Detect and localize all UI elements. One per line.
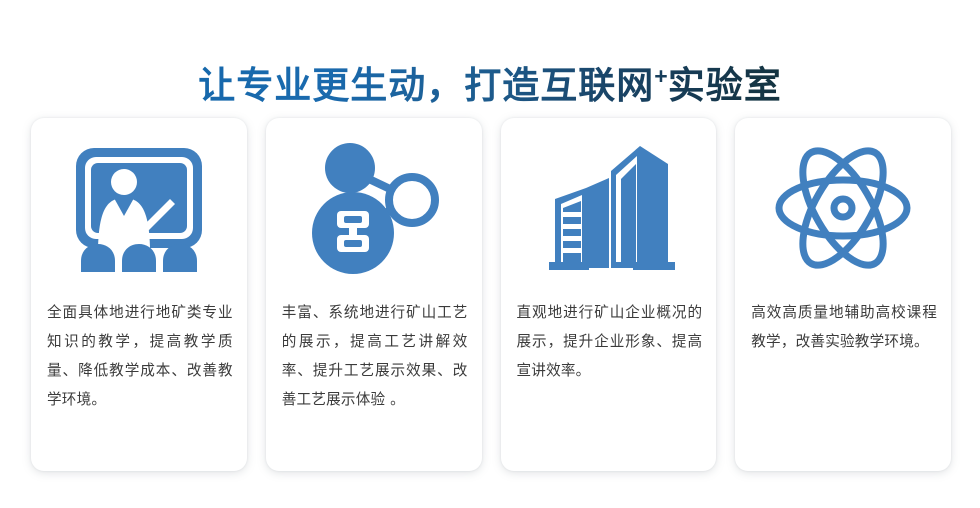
feature-card-description: 全面具体地进行地矿类专业知识的教学，提高教学质量、降低教学成本、改善教学环境。 [47, 298, 233, 414]
office-buildings-icon [537, 142, 679, 274]
feature-card-icon-container [735, 118, 951, 298]
feature-card-icon-container [31, 118, 247, 298]
atom-science-icon [773, 146, 913, 270]
page-title-part-2: 实验室 [668, 65, 782, 106]
feature-card-enterprise-overview[interactable]: 直观地进行矿山企业概况的展示，提升企业形象、提高宣讲效率。 [501, 118, 717, 471]
page-title-part-1: 让专业更生动，打造互联网 [198, 65, 654, 106]
feature-card-icon-container [266, 118, 482, 298]
page-title: 让专业更生动，打造互联网+实验室 [198, 53, 781, 109]
feature-card-process-display[interactable]: 丰富、系统地进行矿山工艺的展示，提高工艺讲解效率、提升工艺展示效果、改善工艺展示… [266, 118, 482, 471]
feature-card-description: 丰富、系统地进行矿山工艺的展示，提高工艺讲解效率、提升工艺展示效果、改善工艺展示… [282, 298, 468, 414]
feature-card-description: 直观地进行矿山企业概况的展示，提升企业形象、提高宣讲效率。 [517, 298, 703, 385]
classroom-teaching-icon [69, 144, 209, 272]
feature-card-course-teaching[interactable]: 高效高质量地辅助高校课程教学，改善实验教学环境。 [735, 118, 951, 471]
feature-card-description: 高效高质量地辅助高校课程教学，改善实验教学环境。 [751, 298, 937, 356]
feature-card-teaching[interactable]: 全面具体地进行地矿类专业知识的教学，提高教学质量、降低教学成本、改善教学环境。 [31, 118, 247, 471]
feature-highlights-page: 让专业更生动，打造互联网+实验室 [0, 0, 980, 508]
feature-card-icon-container [501, 118, 717, 298]
plus-superscript: + [654, 63, 667, 89]
feature-card-list: 全面具体地进行地矿类专业知识的教学，提高教学质量、降低教学成本、改善教学环境。 [31, 118, 951, 471]
network-share-nodes-icon [304, 142, 444, 274]
